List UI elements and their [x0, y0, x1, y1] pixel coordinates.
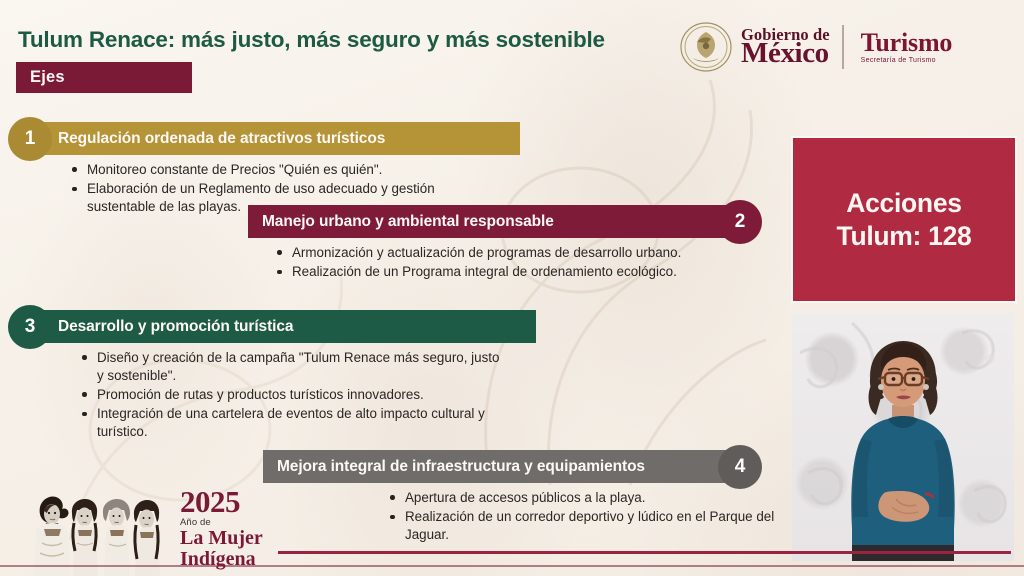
eje-3-title-bar: Desarrollo y promoción turística	[30, 310, 536, 343]
eje-4-title-bar: Mejora integral de infraestructura y equ…	[263, 450, 740, 483]
list-item: Promoción de rutas y productos turístico…	[80, 386, 505, 404]
eje-2-title: Manejo urbano y ambiental responsable	[262, 213, 554, 231]
eje-3-number-badge: 3	[8, 305, 52, 349]
eje-1-header: Regulación ordenada de atractivos turíst…	[0, 122, 492, 155]
year-2025: 2025	[180, 487, 320, 516]
section-label-text: Ejes	[16, 68, 65, 87]
interpreter-figure	[792, 331, 1014, 561]
logo-secretaria-de-turismo: Secretaría de Turismo	[861, 57, 953, 64]
mujer-indigena-text: 2025 Año de La Mujer Indígena	[180, 487, 320, 569]
gobierno-text-block: Gobierno de México	[741, 27, 830, 67]
eje-1-title-bar: Regulación ordenada de atractivos turíst…	[30, 122, 520, 155]
eje-4-title: Mejora integral de infraestructura y equ…	[277, 458, 645, 476]
eje-1-number: 1	[25, 128, 36, 150]
eje-block-2: Manejo urbano y ambiental responsable 2 …	[300, 205, 770, 281]
eje-1-title: Regulación ordenada de atractivos turíst…	[58, 130, 385, 148]
list-item: Integración de una cartelera de eventos …	[80, 405, 505, 441]
slide-canvas: Tulum Renace: más justo, más seguro y má…	[0, 0, 1024, 576]
four-indigenous-women-illustration	[28, 487, 180, 576]
section-label-ejes: Ejes	[16, 62, 192, 93]
eje-block-4: Mejora integral de infraestructura y equ…	[315, 450, 770, 544]
list-item: Apertura de accesos públicos a la playa.	[388, 489, 778, 507]
page-title: Tulum Renace: más justo, más seguro y má…	[18, 27, 605, 53]
eje-4-number: 4	[735, 456, 746, 478]
mujer-indigena-2025-logo: 2025 Año de La Mujer Indígena	[28, 487, 318, 576]
turismo-text-block: Turismo Secretaría de Turismo	[861, 30, 953, 64]
list-item: Diseño y creación de la campaña "Tulum R…	[80, 349, 505, 385]
gobierno-de-mexico-logo: Gobierno de México Turismo Secretaría de…	[679, 17, 1009, 77]
slide-bottom-rule	[0, 565, 1024, 567]
eje-3-bullet-list: Diseño y creación de la campaña "Tulum R…	[80, 349, 505, 441]
eje-block-1: Regulación ordenada de atractivos turíst…	[0, 122, 492, 216]
logo-turismo: Turismo	[861, 30, 953, 56]
list-item: Realización de un Programa integral de o…	[275, 263, 770, 281]
eje-4-header: Mejora integral de infraestructura y equ…	[315, 450, 770, 483]
list-item: Monitoreo constante de Precios "Quién es…	[70, 161, 492, 179]
eje-3-title: Desarrollo y promoción turística	[58, 318, 293, 336]
eje-2-title-bar: Manejo urbano y ambiental responsable	[248, 205, 740, 238]
eje-2-number: 2	[735, 211, 746, 233]
eje-3-number: 3	[25, 316, 36, 338]
acciones-count-line: Tulum: 128	[837, 220, 972, 252]
eje-2-number-badge: 2	[718, 200, 762, 244]
logo-accent-rule	[278, 551, 1011, 554]
eje-4-number-badge: 4	[718, 445, 762, 489]
acciones-tulum-panel: Acciones Tulum: 128	[793, 138, 1015, 301]
eje-3-header: Desarrollo y promoción turística 3	[0, 310, 520, 343]
eje-block-3: Desarrollo y promoción turística 3 Diseñ…	[0, 310, 520, 441]
eje-4-bullet-list: Apertura de accesos públicos a la playa.…	[388, 489, 778, 544]
list-item: Armonización y actualización de programa…	[275, 244, 770, 262]
acciones-label: Acciones	[837, 187, 972, 219]
la-mujer-label: La Mujer	[180, 528, 320, 548]
acciones-panel-text: Acciones Tulum: 128	[837, 187, 972, 252]
eje-2-header: Manejo urbano y ambiental responsable 2	[300, 205, 770, 238]
sign-language-interpreter-video[interactable]	[792, 313, 1014, 561]
eje-2-bullet-list: Armonización y actualización de programa…	[275, 244, 770, 281]
eje-1-number-badge: 1	[8, 117, 52, 161]
logo-divider	[842, 25, 844, 69]
list-item: Realización de un corredor deportivo y l…	[388, 508, 778, 544]
mexican-coat-of-arms-icon	[679, 20, 733, 74]
logo-line-mexico: México	[741, 40, 830, 67]
